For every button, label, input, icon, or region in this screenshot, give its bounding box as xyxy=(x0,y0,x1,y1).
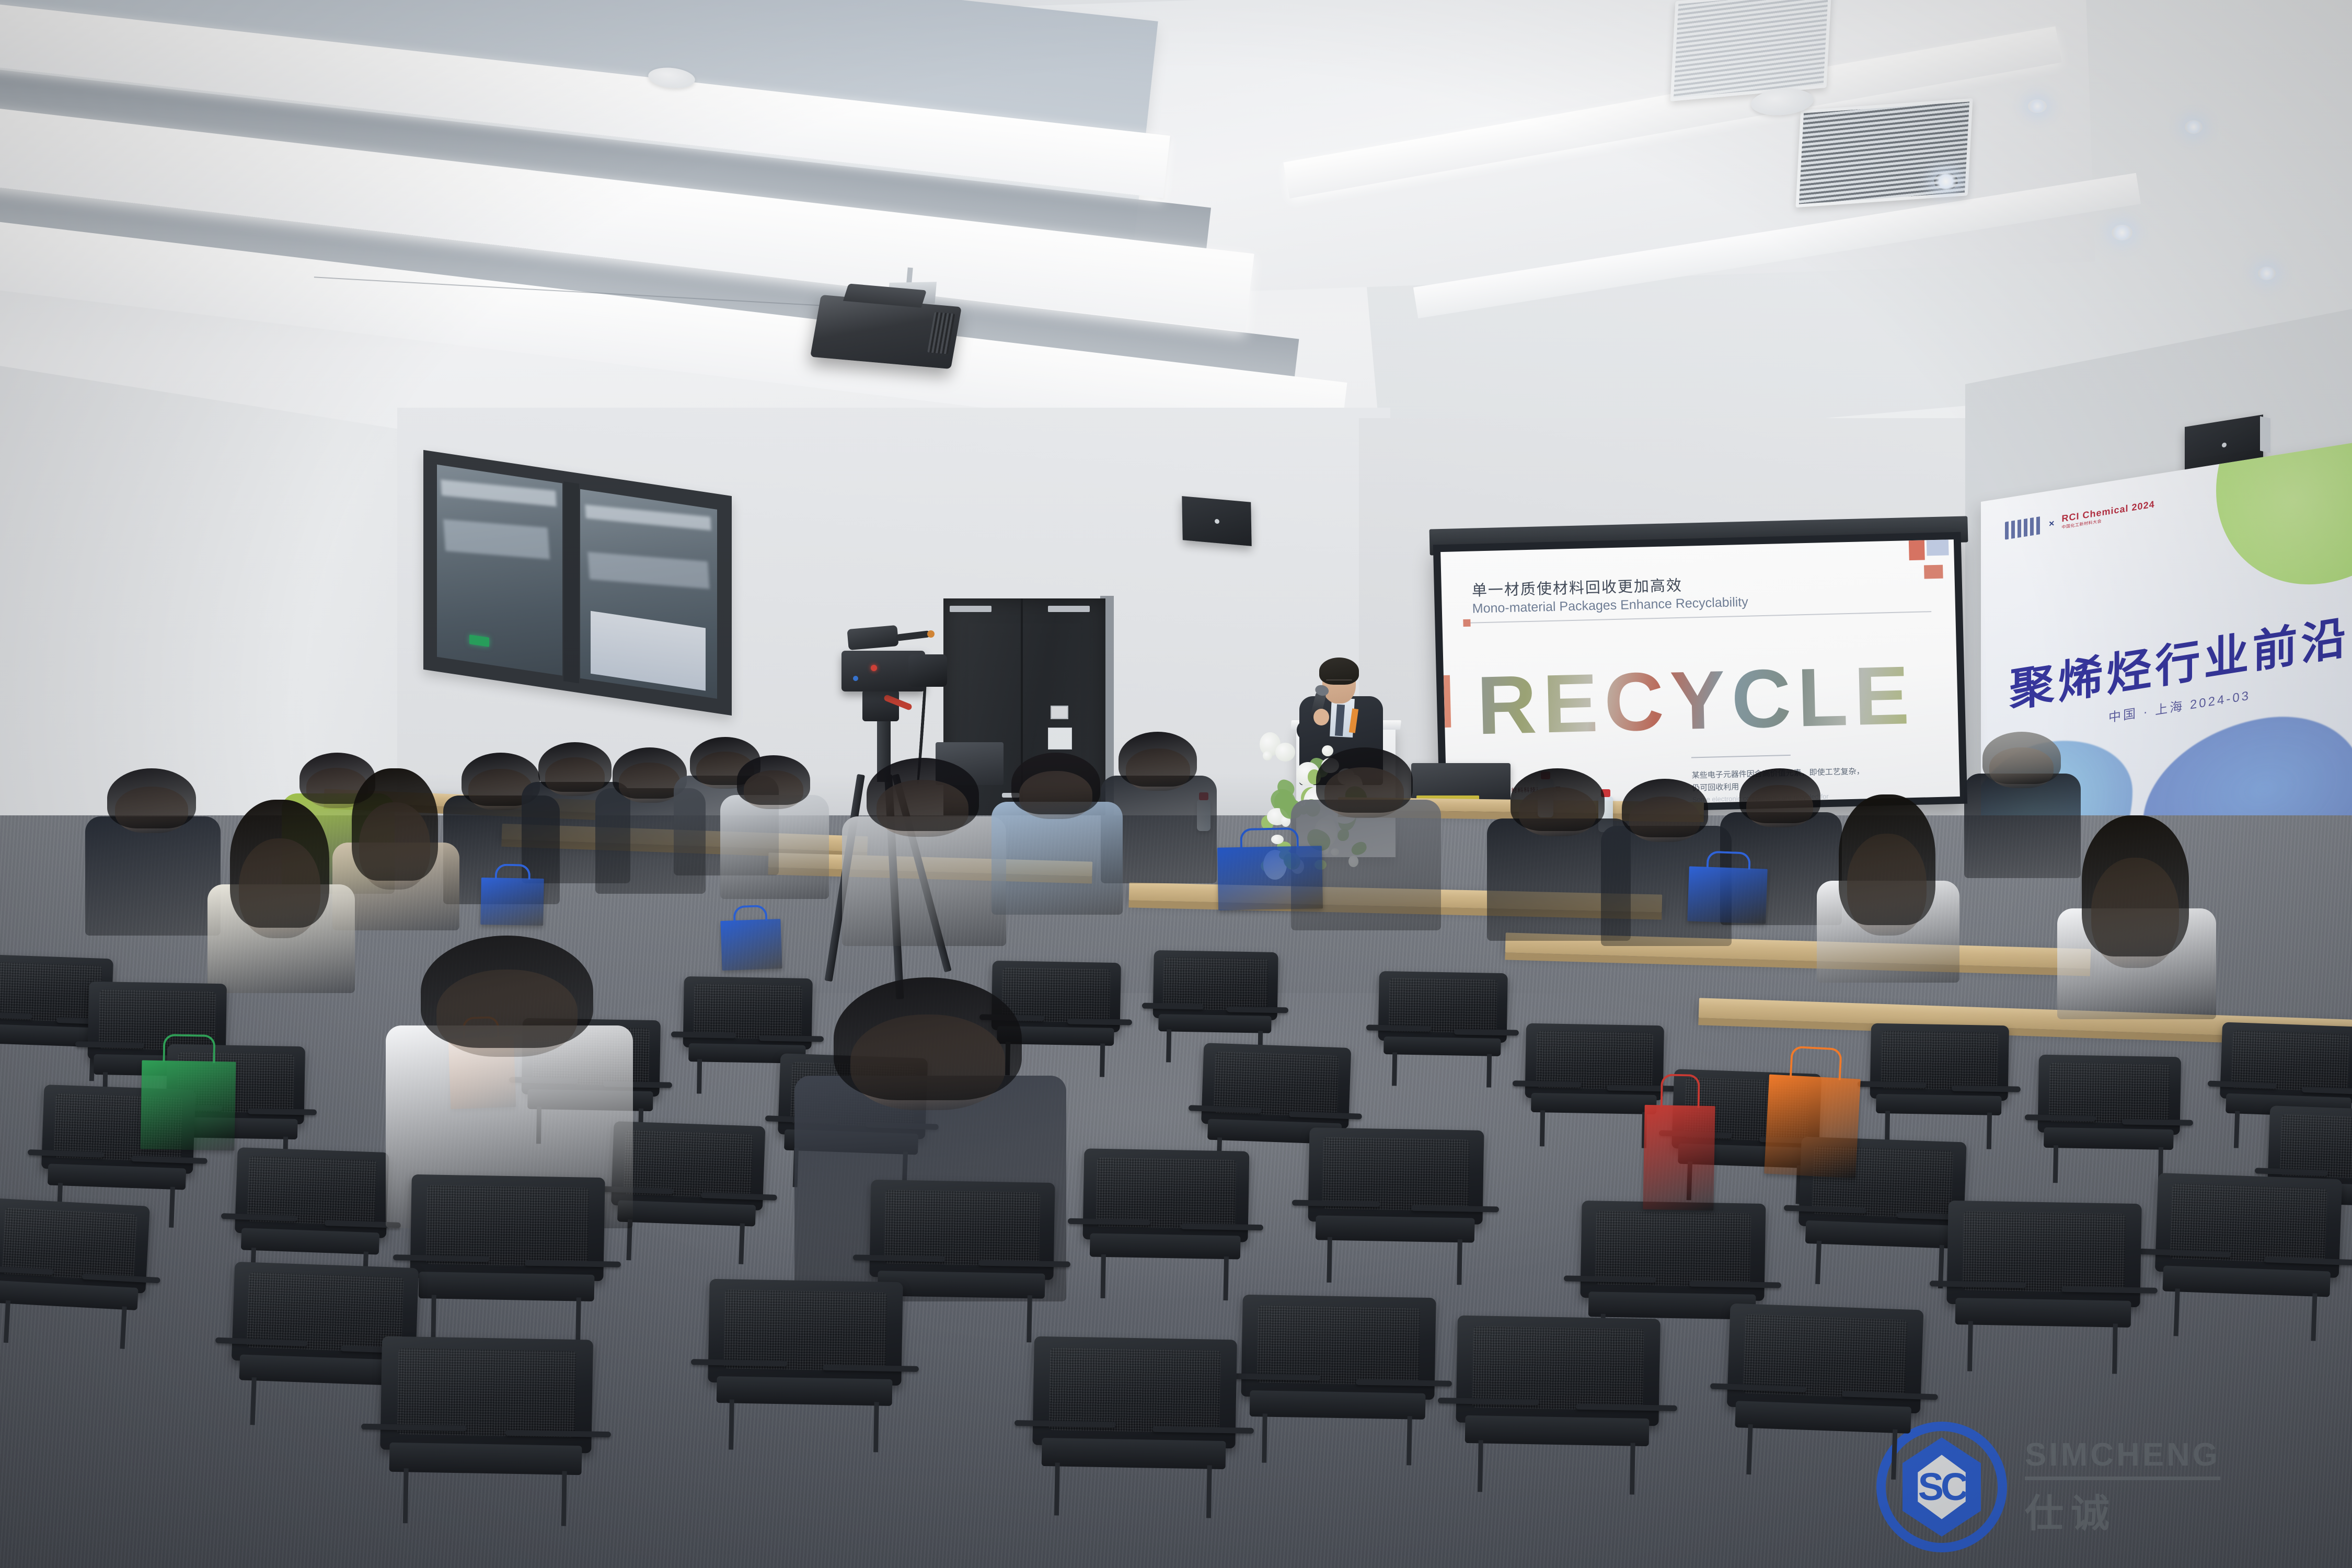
slide-title-chinese: 单一材质使材料回收更加高效 xyxy=(1471,573,1682,601)
chair-armrest xyxy=(1142,1002,1204,1009)
chair-mesh xyxy=(1257,1305,1421,1386)
downlight-icon xyxy=(2258,267,2276,280)
chair-mesh xyxy=(693,984,802,1040)
chair-mesh xyxy=(1963,1211,2126,1293)
conference-chair[interactable] xyxy=(694,1278,916,1449)
chair-leg xyxy=(1206,1466,1212,1518)
chair-seat xyxy=(1090,1233,1241,1260)
person-hair xyxy=(1622,779,1708,837)
chair-armrest xyxy=(1513,1081,1582,1088)
conference-chair[interactable] xyxy=(364,1336,608,1523)
conference-chair[interactable] xyxy=(1295,1127,1496,1283)
chair-seat xyxy=(1805,1220,1956,1248)
chair-seat xyxy=(419,1272,595,1301)
person-hair xyxy=(421,936,593,1048)
chair-mesh xyxy=(397,1348,577,1437)
person-hair xyxy=(1739,768,1820,823)
bag-handle xyxy=(163,1034,216,1063)
tote-bag-orange xyxy=(1764,1075,1861,1179)
bag-handle xyxy=(1660,1074,1700,1108)
chair-mesh xyxy=(1472,1327,1644,1411)
person-hair xyxy=(352,768,438,881)
chair-leg xyxy=(561,1471,567,1526)
conference-chair[interactable] xyxy=(1227,1294,1449,1462)
chair-armrest xyxy=(1438,1398,1539,1405)
tote-bag-blue xyxy=(480,878,544,926)
chair-leg xyxy=(402,1468,408,1523)
audience-member xyxy=(84,768,220,936)
chair-leg xyxy=(1054,1463,1060,1516)
chair-seat xyxy=(1316,1216,1475,1243)
person-hair xyxy=(867,758,979,831)
chair-seat xyxy=(1042,1438,1226,1469)
chair-armrest xyxy=(853,1254,945,1262)
conference-chair[interactable] xyxy=(1441,1315,1674,1492)
chair-leg xyxy=(739,1224,745,1264)
chair-mesh xyxy=(1388,978,1497,1033)
chair-mesh xyxy=(1049,1347,1220,1433)
chair-leg xyxy=(1486,1054,1492,1088)
person-hair xyxy=(230,800,329,928)
chair-mesh xyxy=(1322,1137,1470,1212)
tripod-fluid-head xyxy=(862,690,899,721)
chair-leg xyxy=(2112,1324,2118,1374)
chair-leg xyxy=(4,1300,10,1343)
person-hair xyxy=(1511,768,1605,831)
chair-armrest xyxy=(1952,1085,2021,1092)
audience-member xyxy=(1819,794,1955,983)
chair-armrest xyxy=(2025,1114,2096,1121)
watermark-brand-cn: 仕诚 xyxy=(2025,1482,2220,1538)
person-hair xyxy=(1316,747,1413,813)
chair-leg xyxy=(1967,1321,1973,1371)
chair-leg xyxy=(2053,1145,2058,1183)
audience-member xyxy=(993,753,1119,915)
tote-bag-green xyxy=(141,1060,236,1150)
wall-socket-icon xyxy=(1051,706,1068,719)
chair-seat xyxy=(1955,1298,2131,1328)
chair-mesh xyxy=(724,1289,887,1371)
chair-seat xyxy=(717,1376,893,1406)
camera-viewfinder-hood xyxy=(847,625,898,650)
chair-seat xyxy=(1531,1093,1657,1114)
projector-vent-icon xyxy=(927,312,955,354)
hvac-vent-icon xyxy=(1796,98,1973,207)
chair-mesh xyxy=(884,1190,1040,1266)
chair-leg xyxy=(1100,1043,1105,1077)
chair-leg xyxy=(1392,1052,1397,1086)
chair-armrest xyxy=(1858,1081,1927,1088)
chair-leg xyxy=(1224,1256,1229,1300)
chair-armrest xyxy=(1067,1018,1132,1025)
person-hair xyxy=(1982,732,2061,784)
camera-tally-light-icon xyxy=(871,665,877,671)
chair-leg xyxy=(1457,1239,1463,1285)
banner-logo-divider: × xyxy=(2049,517,2055,529)
chair-seat xyxy=(1383,1036,1501,1056)
audience-member xyxy=(847,758,998,946)
slide-accent-block xyxy=(1927,539,1949,556)
gift-bag-red xyxy=(1643,1105,1715,1210)
flower-bloom xyxy=(1263,751,1272,760)
conference-chair[interactable] xyxy=(1860,1023,2019,1147)
conference-chair[interactable] xyxy=(1368,971,1517,1086)
speaker-led-icon xyxy=(1215,519,1219,524)
conference-chair[interactable] xyxy=(0,1197,160,1347)
bag-handle xyxy=(1240,827,1299,848)
camera-lens-icon xyxy=(908,654,947,687)
watermark-brand-en: SIMCHENG xyxy=(2025,1436,2220,1480)
person-hair xyxy=(1119,732,1197,787)
audience-member xyxy=(2059,815,2211,1019)
slide-hero-word: RECYCLE xyxy=(1465,642,1928,758)
chair-armrest xyxy=(1226,1006,1288,1013)
chair-armrest xyxy=(671,1031,735,1038)
chair-seat xyxy=(389,1443,582,1475)
door-closer-icon xyxy=(950,606,991,612)
chair-armrest xyxy=(1292,1200,1379,1207)
chair-armrest xyxy=(248,1108,317,1115)
wall-speaker-left xyxy=(1182,496,1251,546)
conference-chair[interactable] xyxy=(1070,1148,1261,1298)
chair-seat xyxy=(617,1200,756,1227)
chair-mesh xyxy=(1163,957,1268,1010)
chair-leg xyxy=(1987,1113,1992,1149)
person-hair xyxy=(107,768,196,828)
chair-leg xyxy=(2174,1288,2180,1336)
chair-armrest xyxy=(1454,1029,1518,1035)
chair-armrest xyxy=(2122,1119,2194,1125)
chair-seat xyxy=(241,1228,379,1255)
chair-seat xyxy=(1735,1401,1911,1434)
chair-leg xyxy=(697,1059,702,1094)
chair-mesh xyxy=(426,1185,590,1266)
conference-room-photo: × RCI Chemical 2024 中国化工新材料大会 聚烯烃行业前沿 中国… xyxy=(0,0,2352,1568)
door-closer-icon xyxy=(1048,606,1090,612)
slide-rule-marker xyxy=(1463,619,1470,627)
slide-body-underline xyxy=(1691,755,1791,758)
watermark: SC SIMCHENG 仕诚 xyxy=(1876,1414,2336,1560)
camera-status-led-icon xyxy=(853,676,858,681)
banner-logo-right: RCI Chemical 2024 中国化工新材料大会 xyxy=(2062,499,2155,530)
chair-leg xyxy=(2311,1293,2317,1341)
conference-chair[interactable] xyxy=(1932,1200,2155,1371)
banner-green-blob xyxy=(2216,439,2352,601)
tote-bag-blue xyxy=(1687,866,1768,924)
chair-leg xyxy=(1630,1443,1635,1494)
chair-leg xyxy=(1262,1413,1267,1463)
chair-seat xyxy=(2163,1265,2331,1297)
chair-seat xyxy=(2044,1127,2174,1150)
speaker-bracket xyxy=(2260,416,2270,453)
person-hair xyxy=(1839,794,1935,925)
microphone-windscreen xyxy=(927,630,935,638)
downlight-icon xyxy=(1934,172,1958,190)
person-hair xyxy=(737,755,810,805)
ceiling-projector xyxy=(810,295,962,369)
conference-chair[interactable] xyxy=(2027,1054,2191,1182)
chair-leg xyxy=(1540,1110,1545,1146)
chair-mesh xyxy=(1096,1158,1236,1229)
chair-leg xyxy=(120,1307,126,1349)
chair-seat xyxy=(48,1163,186,1190)
conference-chair[interactable] xyxy=(1712,1303,1937,1478)
chair-mesh xyxy=(1595,1210,1751,1287)
bag-handle xyxy=(1789,1046,1842,1080)
chair-leg xyxy=(1027,1295,1032,1342)
conference-chair[interactable] xyxy=(1018,1336,1251,1515)
downlight-icon xyxy=(2185,120,2203,134)
chair-armrest xyxy=(361,1424,467,1432)
chair-leg xyxy=(250,1377,257,1425)
chair-mesh xyxy=(1536,1031,1653,1089)
chair-leg xyxy=(873,1402,879,1452)
downlight-icon xyxy=(2112,225,2132,240)
person-torso xyxy=(85,816,220,936)
chair-leg xyxy=(2234,1111,2240,1148)
chair-mesh xyxy=(1881,1031,1998,1090)
tote-bag-blue xyxy=(1217,846,1323,910)
slide-accent-block xyxy=(1924,565,1943,579)
chair-armrest xyxy=(1068,1218,1151,1226)
window-mullion xyxy=(563,481,579,683)
chair-mesh xyxy=(2049,1063,2170,1124)
watermark-text: SIMCHENG 仕诚 xyxy=(2025,1436,2220,1538)
person-hair xyxy=(2082,815,2189,956)
hvac-vent-icon xyxy=(1670,0,1832,101)
banner-logo-row: × RCI Chemical 2024 中国化工新材料大会 xyxy=(2005,498,2155,539)
person-hair xyxy=(1011,753,1100,814)
chair-leg xyxy=(1327,1237,1332,1283)
chair-seat xyxy=(1465,1415,1650,1446)
tote-bag-blue xyxy=(720,919,782,971)
chair-leg xyxy=(1478,1440,1483,1492)
presenter-hand xyxy=(1313,709,1329,725)
chair-leg xyxy=(1746,1424,1753,1474)
chair-seat xyxy=(1250,1390,1426,1420)
bag-handle xyxy=(1707,850,1751,870)
person-hair xyxy=(834,977,1022,1100)
chair-leg xyxy=(1815,1241,1821,1284)
chair-armrest xyxy=(1564,1275,1656,1283)
downlight-icon xyxy=(2028,99,2047,113)
slide-accent-block xyxy=(1444,675,1451,728)
wall-plate xyxy=(1048,728,1072,750)
chair-leg xyxy=(1100,1254,1105,1298)
person-torso xyxy=(720,795,829,899)
chair-armrest xyxy=(1014,1420,1116,1427)
bag-handle xyxy=(495,863,531,879)
conference-chair[interactable] xyxy=(2140,1172,2352,1339)
chair-leg xyxy=(1406,1416,1412,1466)
chair-armrest xyxy=(1366,1025,1431,1032)
banner-logo-left-icon xyxy=(2005,516,2042,540)
audience-member xyxy=(209,800,350,993)
interior-window xyxy=(423,450,732,716)
bag-handle xyxy=(733,904,767,921)
speaker-led-icon xyxy=(2222,442,2227,447)
audience-member xyxy=(721,755,826,899)
chair-seat xyxy=(1158,1014,1272,1033)
slide-accent-block xyxy=(1909,540,1925,560)
chair-armrest xyxy=(75,1041,144,1048)
chair-seat xyxy=(1876,1093,2002,1115)
chair-leg xyxy=(729,1400,734,1450)
chair-leg xyxy=(169,1187,175,1228)
chair-leg xyxy=(1891,1429,1897,1480)
presenter-glasses-icon xyxy=(1326,679,1352,685)
chair-leg xyxy=(1166,1030,1171,1063)
